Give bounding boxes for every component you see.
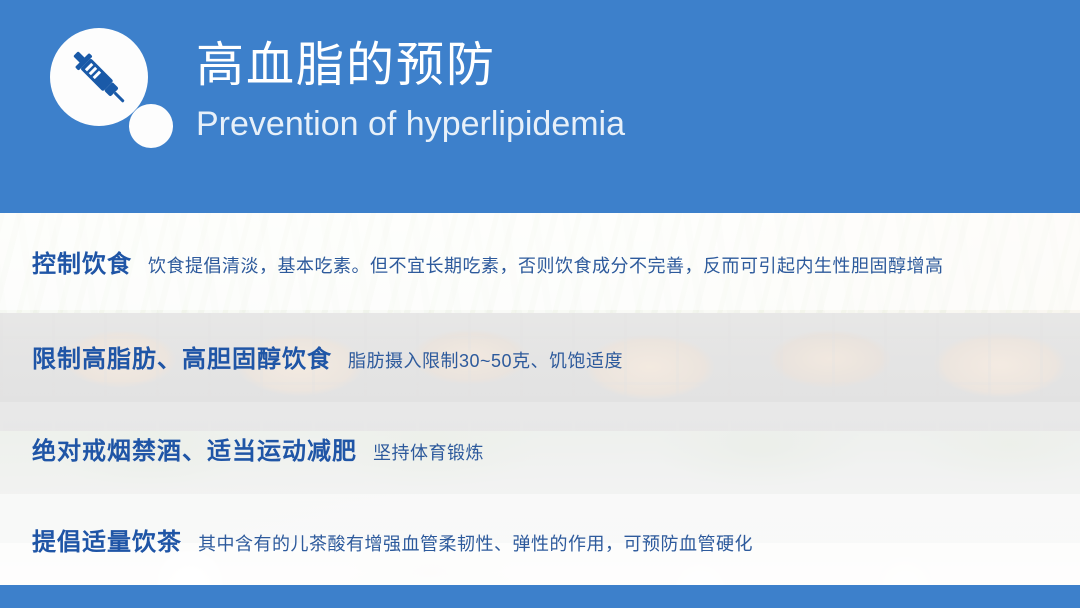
page-title: 高血脂的预防 — [196, 36, 1016, 96]
row-body: 坚持体育锻炼 — [373, 439, 484, 465]
row-text: 控制饮食 饮食提倡清淡，基本吃素。但不宜长期吃素，否则饮食成分不完善，反而可引起… — [0, 244, 944, 279]
list-item: 限制高脂肪、高胆固醇饮食 脂肪摄入限制30~50克、饥饱适度 — [0, 310, 1080, 402]
slide-root: 高血脂的预防 Prevention of hyperlipidemia 控制饮食… — [0, 0, 1080, 608]
row-text: 限制高脂肪、高胆固醇饮食 脂肪摄入限制30~50克、饥饱适度 — [0, 339, 623, 374]
list-item: 绝对戒烟禁酒、适当运动减肥 坚持体育锻炼 — [0, 402, 1080, 494]
row-body: 脂肪摄入限制30~50克、饥饱适度 — [348, 347, 623, 373]
page-subtitle: Prevention of hyperlipidemia — [196, 102, 1016, 146]
row-text: 提倡适量饮茶 其中含有的儿茶酸有增强血管柔韧性、弹性的作用，可预防血管硬化 — [0, 522, 753, 557]
content-rows: 控制饮食 饮食提倡清淡，基本吃素。但不宜长期吃素，否则饮食成分不完善，反而可引起… — [0, 213, 1080, 585]
row-text: 绝对戒烟禁酒、适当运动减肥 坚持体育锻炼 — [0, 431, 484, 466]
row-body: 其中含有的儿茶酸有增强血管柔韧性、弹性的作用，可预防血管硬化 — [198, 530, 753, 556]
slide-header: 高血脂的预防 Prevention of hyperlipidemia — [0, 0, 1080, 213]
row-heading: 绝对戒烟禁酒、适当运动减肥 — [32, 431, 357, 466]
footer-accent-bar — [0, 585, 1080, 608]
list-item: 提倡适量饮茶 其中含有的儿茶酸有增强血管柔韧性、弹性的作用，可预防血管硬化 — [0, 494, 1080, 585]
syringe-icon — [50, 28, 148, 126]
row-body: 饮食提倡清淡，基本吃素。但不宜长期吃素，否则饮食成分不完善，反而可引起内生性胆固… — [148, 252, 944, 278]
title-block: 高血脂的预防 Prevention of hyperlipidemia — [196, 36, 1016, 146]
row-heading: 控制饮食 — [32, 244, 132, 279]
row-heading: 限制高脂肪、高胆固醇饮食 — [32, 339, 332, 374]
list-item: 控制饮食 饮食提倡清淡，基本吃素。但不宜长期吃素，否则饮食成分不完善，反而可引起… — [0, 213, 1080, 310]
row-heading: 提倡适量饮茶 — [32, 522, 182, 557]
